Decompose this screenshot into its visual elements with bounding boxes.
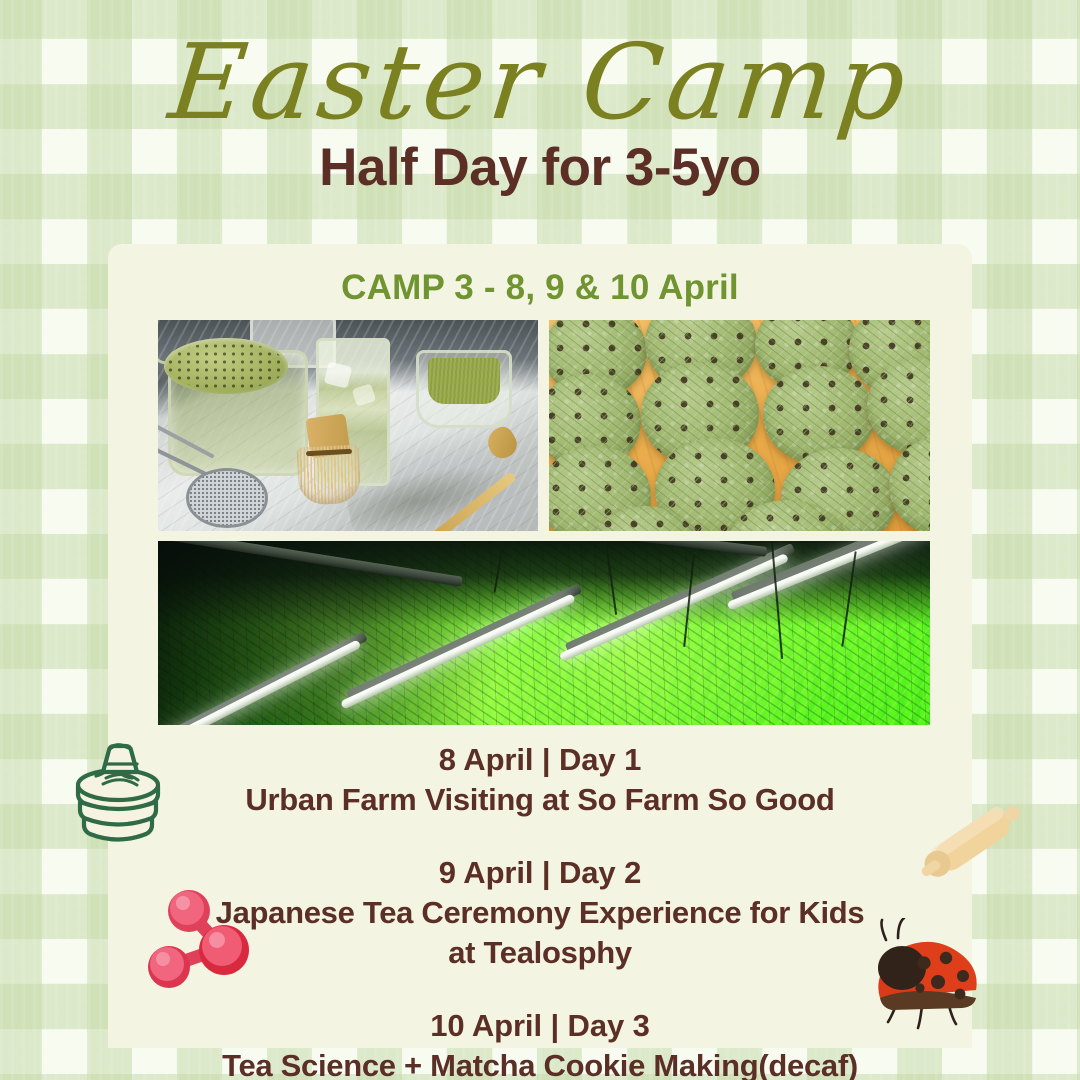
photo-row-top [158, 320, 930, 531]
molecule-icon [142, 880, 258, 992]
page-title: Easter Camp [0, 30, 1080, 134]
schedule-day-title: Urban Farm Visiting at So Farm So Good [108, 780, 972, 820]
mortar-pestle-icon [62, 734, 174, 846]
photo-matcha-preparation [158, 320, 538, 531]
photo-matcha-cookies [549, 320, 930, 531]
schedule-day-date: 10 April | Day 3 [108, 1006, 972, 1046]
ladybug-icon [862, 918, 988, 1032]
poster-canvas: Easter Camp Half Day for 3-5yo CAMP 3 - … [0, 0, 1080, 1080]
poster-header: Easter Camp Half Day for 3-5yo [0, 30, 1080, 196]
rolling-pin-icon [912, 792, 1030, 888]
schedule-day-1: 8 April | Day 1 Urban Farm Visiting at S… [108, 740, 972, 819]
schedule-day-title: Tea Science + Matcha Cookie Making(decaf… [108, 1046, 972, 1080]
camp-dates-heading: CAMP 3 - 8, 9 & 10 April [108, 268, 972, 308]
schedule-day-3: 10 April | Day 3 Tea Science + Matcha Co… [108, 1006, 972, 1080]
schedule-day-date: 8 April | Day 1 [108, 740, 972, 780]
page-subtitle: Half Day for 3-5yo [0, 140, 1080, 196]
photo-vertical-urban-farm [158, 541, 930, 725]
